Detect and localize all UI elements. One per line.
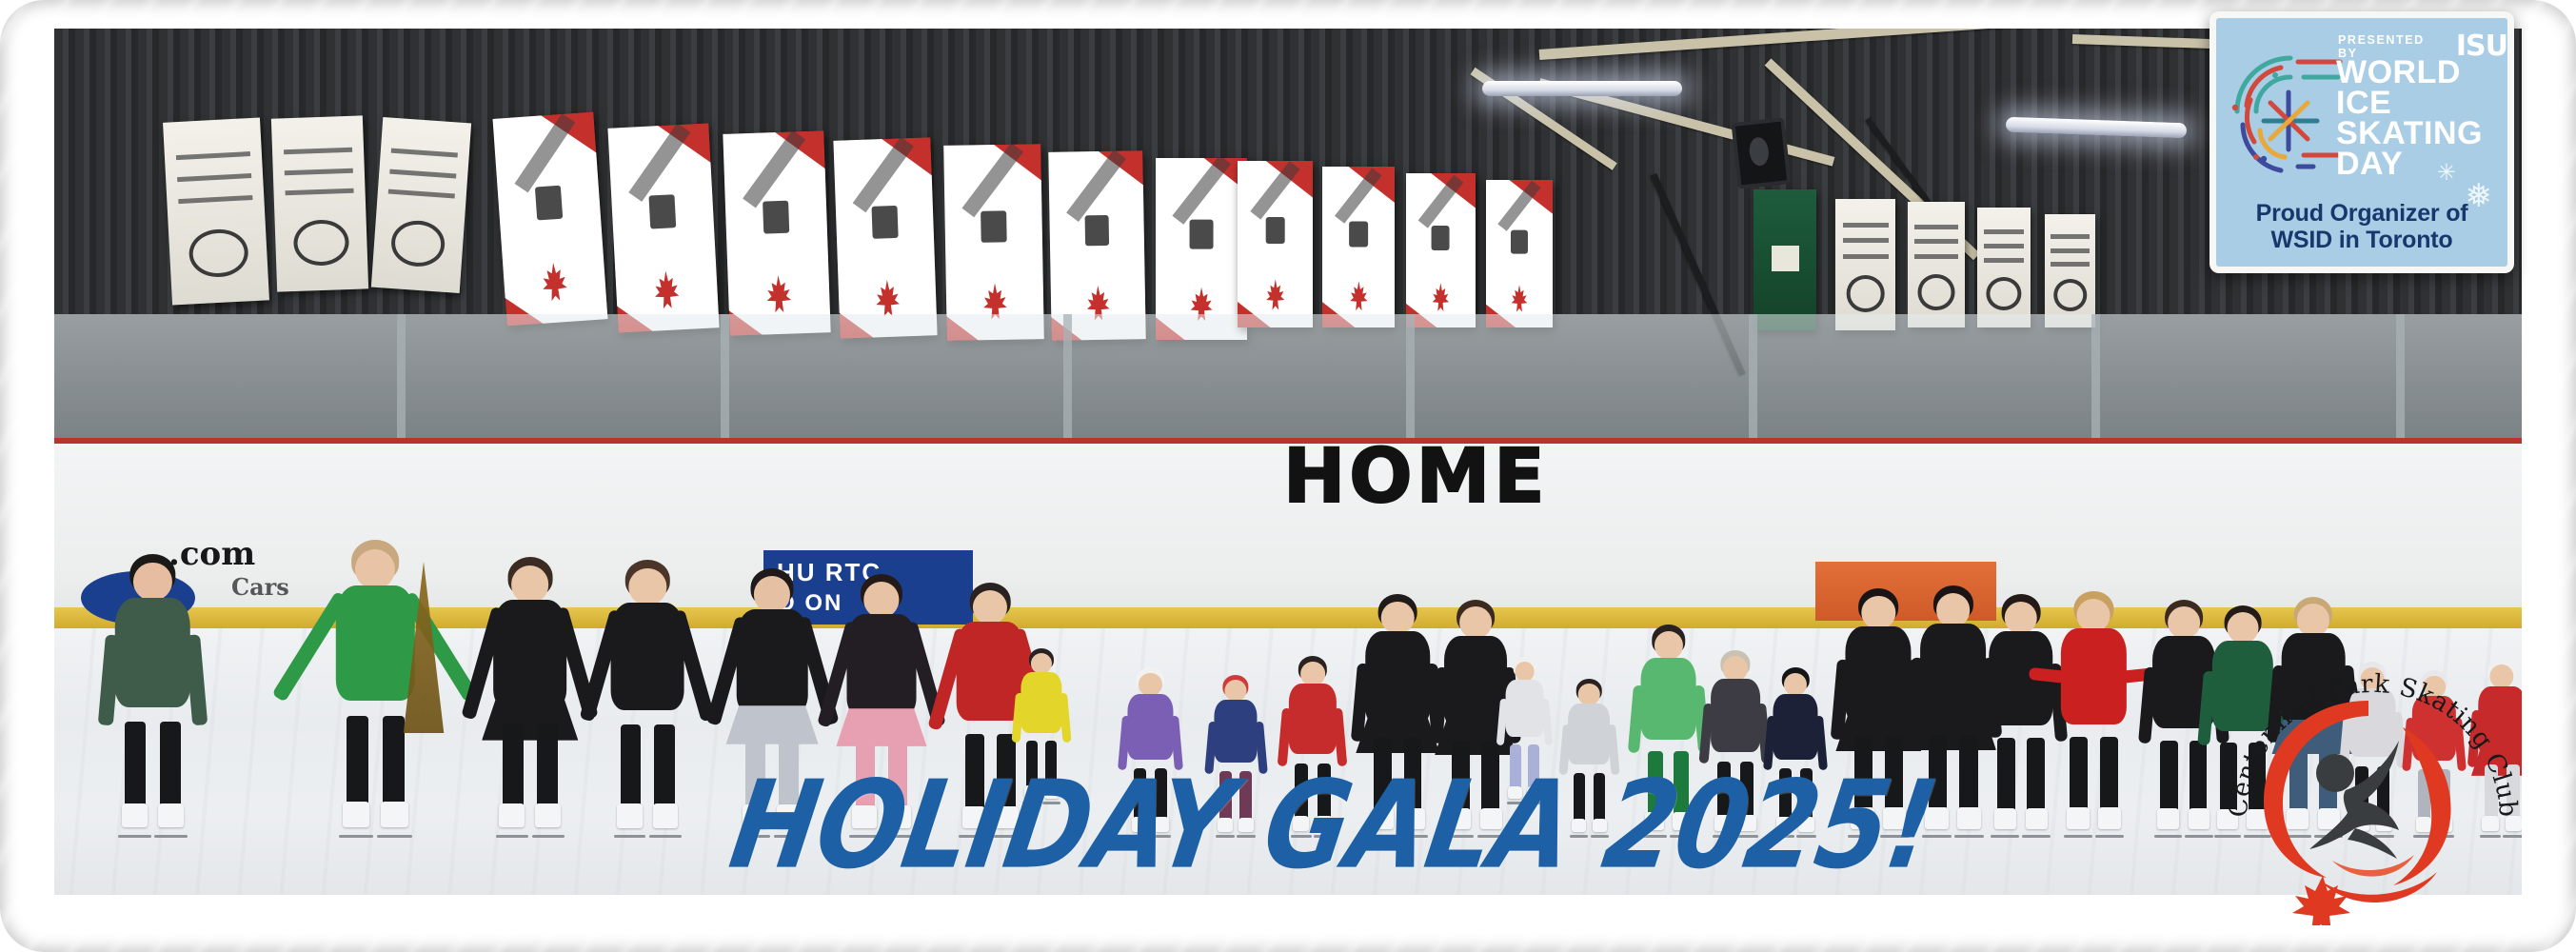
skater-head xyxy=(1139,673,1161,696)
skater-head xyxy=(1225,680,1247,702)
skate-blade xyxy=(118,835,151,838)
skate-boot xyxy=(343,802,370,827)
skate-blade xyxy=(154,835,188,838)
skater-torso xyxy=(1640,658,1696,741)
skate-blade xyxy=(2154,835,2182,838)
skate-blade xyxy=(532,835,565,838)
skate-blade xyxy=(339,835,373,838)
wsid-title: WORLD ICE SKATING DAY xyxy=(2336,58,2507,180)
skate-boot xyxy=(2067,807,2090,828)
wsid-title-line3: DAY xyxy=(2336,149,2507,180)
skater-torso xyxy=(846,614,916,716)
page-title: HOLIDAY GALA 2025! xyxy=(722,756,1945,897)
skater-head xyxy=(2297,604,2329,636)
skater-head xyxy=(1515,662,1535,682)
skater-head xyxy=(1723,656,1748,681)
logo-sweep-inner xyxy=(2332,855,2414,877)
skater-head xyxy=(2005,602,2038,635)
skater-head xyxy=(1031,653,1052,674)
skater-head xyxy=(1654,631,1682,660)
skater-torso xyxy=(115,598,189,708)
skate-boot xyxy=(122,803,148,828)
skater-skirt xyxy=(836,708,926,746)
skater-figure xyxy=(1984,588,2058,838)
wsid-tagline-line1: Proud Organizer of xyxy=(2216,201,2507,228)
skater-figure xyxy=(487,551,573,838)
skate-boot xyxy=(1994,808,2017,829)
wsid-panel: PRESENTED BY ISU WORLD ICE SKATING DAY ✳… xyxy=(2216,18,2507,267)
skater-head xyxy=(2077,599,2110,632)
skate-blade xyxy=(1991,835,2019,838)
skater-head xyxy=(1381,602,1415,635)
skater-torso xyxy=(1846,626,1912,724)
skater-head xyxy=(1862,596,1895,629)
skater-torso xyxy=(1366,631,1430,725)
wsid-tagline: Proud Organizer of WSID in Toronto xyxy=(2216,201,2507,253)
skater-head xyxy=(1300,662,1325,686)
skater-torso xyxy=(1128,694,1173,760)
club-logo-graphic: Centennial Park Skating Club xyxy=(2226,640,2521,925)
skate-boot xyxy=(381,802,408,827)
skater-head xyxy=(629,568,666,605)
skate-boot xyxy=(2026,808,2049,829)
wsid-tagline-line2: WSID in Toronto xyxy=(2216,228,2507,254)
isu-logo: ISU xyxy=(2456,35,2507,58)
skater-torso xyxy=(336,585,414,701)
skate-boot xyxy=(1957,807,1980,829)
skater-head xyxy=(2168,606,2200,639)
skate-boot xyxy=(653,803,679,827)
wsid-badge: PRESENTED BY ISU WORLD ICE SKATING DAY ✳… xyxy=(2209,11,2514,273)
skater-torso xyxy=(737,609,808,714)
skater-head xyxy=(863,582,899,617)
skate-boot xyxy=(499,803,525,828)
skater-torso xyxy=(1215,700,1258,763)
skater-torso xyxy=(611,603,684,710)
club-logo: Centennial Park Skating Club xyxy=(2226,640,2521,925)
skater-head xyxy=(754,576,790,612)
skater-head xyxy=(1936,593,1971,627)
skate-boot xyxy=(2157,808,2179,829)
logo-maple-leaf xyxy=(2292,876,2350,925)
skate-blade xyxy=(649,835,682,838)
skater-figure xyxy=(329,534,421,838)
skate-boot xyxy=(617,803,643,827)
wsid-title-line2: ICE SKATING xyxy=(2336,89,2507,149)
skater-figure xyxy=(2056,585,2131,838)
skater-head xyxy=(133,563,171,601)
skater-head xyxy=(511,565,549,604)
holiday-gala-poster: HOME .com Cars HU RTC O ON xyxy=(0,0,2576,952)
skater-head xyxy=(355,549,395,589)
skater-torso xyxy=(1444,636,1507,728)
skater-torso xyxy=(2061,628,2126,724)
skater-torso xyxy=(1505,680,1544,737)
skater-torso xyxy=(1289,684,1337,754)
skater-skirt xyxy=(726,705,819,744)
skater-torso xyxy=(1773,694,1818,760)
logo-crescent-right xyxy=(2393,727,2451,885)
skate-blade xyxy=(2064,835,2092,838)
skate-blade xyxy=(377,835,411,838)
skater-torso xyxy=(493,600,567,708)
skate-blade xyxy=(2095,835,2124,838)
skater-head xyxy=(1784,673,1807,696)
skater-skirt xyxy=(482,700,578,740)
skater-figure xyxy=(605,554,690,838)
skate-blade xyxy=(1954,835,1984,838)
skate-boot xyxy=(2098,807,2121,828)
skater-figure xyxy=(109,548,196,838)
skater-head xyxy=(1578,684,1599,704)
logo-skater-head xyxy=(2316,754,2354,792)
skater-head xyxy=(1459,606,1492,639)
skate-blade xyxy=(2022,835,2051,838)
skate-boot xyxy=(535,803,561,828)
logo-skater-leg xyxy=(2348,828,2397,859)
skater-torso xyxy=(1020,672,1061,733)
skate-boot xyxy=(158,803,184,828)
wsid-arc-graphic xyxy=(2222,43,2344,186)
skate-blade xyxy=(614,835,646,838)
snowflake-icon: ✳ xyxy=(2437,159,2456,187)
skate-blade xyxy=(496,835,528,838)
skater-head xyxy=(973,590,1007,625)
skater-skirt xyxy=(1356,718,1439,753)
skater-torso xyxy=(1711,679,1760,751)
